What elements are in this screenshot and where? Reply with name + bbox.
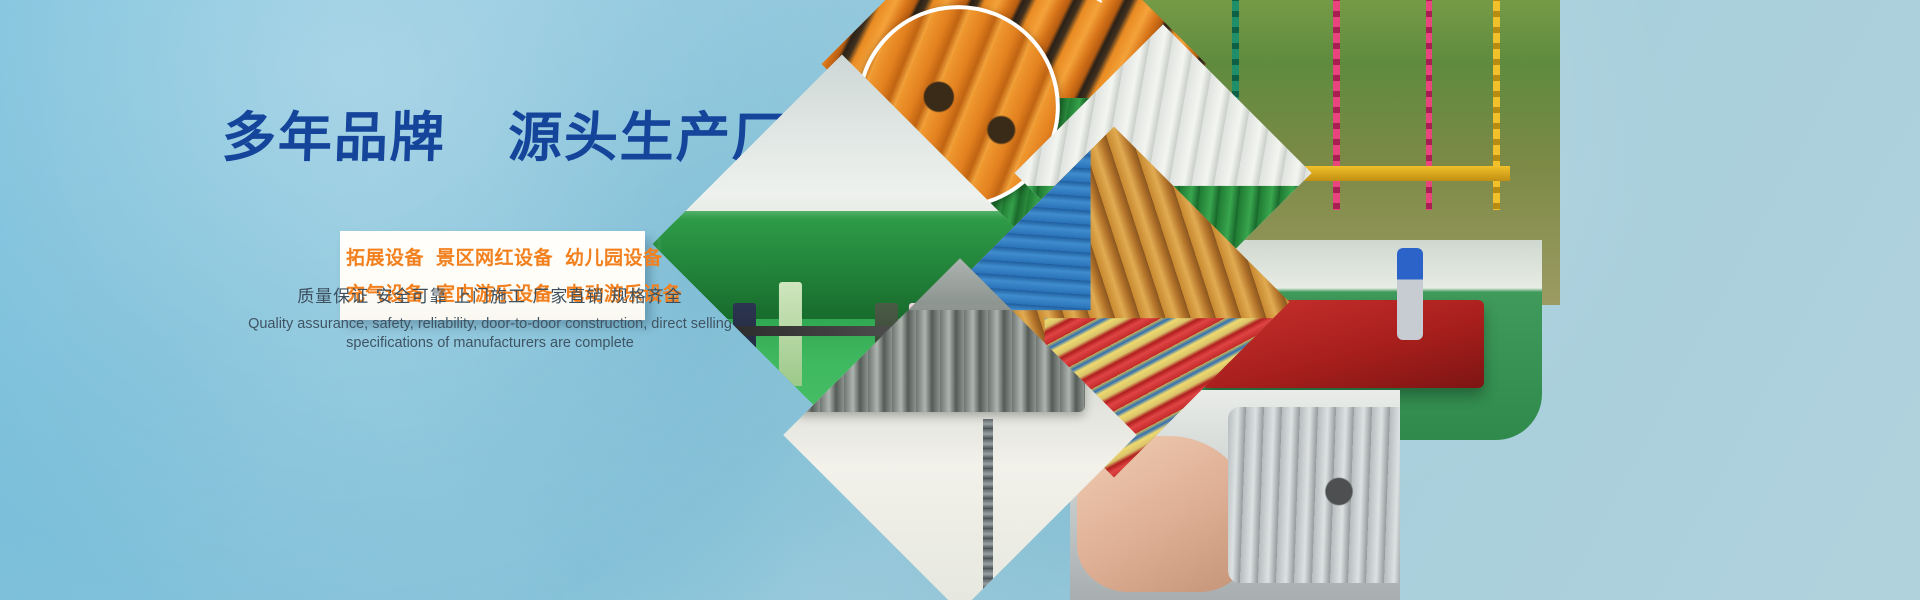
category-item: 拓展设备	[346, 243, 424, 270]
category-row-1: 拓展设备景区网红设备幼儿园设备	[340, 243, 645, 270]
headline-part-1: 多年品牌	[221, 108, 447, 168]
promotional-banner: 多年品牌源头生产厂家 拓展设备景区网红设备幼儿园设备 充气设备室内游乐设备电动游…	[0, 0, 1920, 600]
category-item: 幼儿园设备	[565, 243, 663, 270]
photo-collage	[660, 0, 1920, 600]
category-item: 景区网红设备	[436, 243, 553, 270]
